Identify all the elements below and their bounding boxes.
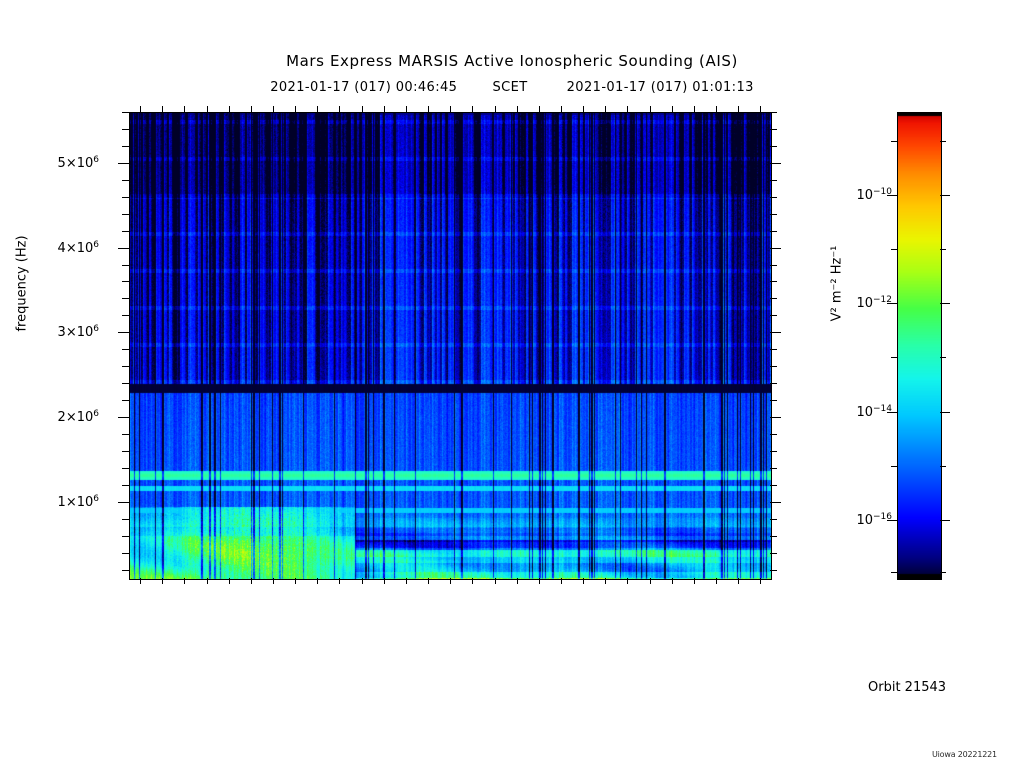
y-axis-tick-label: 4×106 — [58, 239, 99, 255]
colorbar-tick — [940, 412, 950, 413]
y-axis-tick — [122, 197, 129, 198]
y-axis-tick — [770, 315, 777, 316]
orbit-label: Orbit 21543 — [868, 680, 946, 695]
colorbar-minor-tick — [940, 357, 946, 358]
end-datetime: 2021-01-17 (017) 01:01:13 — [567, 80, 754, 95]
x-axis-tick — [760, 106, 761, 112]
y-axis-tick — [122, 536, 129, 537]
y-axis-tick — [770, 163, 781, 164]
x-axis-tick — [539, 106, 540, 112]
x-axis-tick — [561, 578, 562, 584]
x-axis-tick — [384, 106, 385, 112]
x-axis-tick — [251, 578, 252, 584]
y-axis-tick — [122, 434, 129, 435]
y-axis-tick — [770, 553, 777, 554]
y-axis-tick — [770, 468, 777, 469]
y-axis-tick — [122, 553, 129, 554]
x-axis-tick — [517, 578, 518, 584]
x-axis-tick — [384, 578, 385, 584]
y-axis-tick — [770, 214, 777, 215]
colorbar-minor-tick — [891, 249, 897, 250]
x-axis-tick — [140, 106, 141, 112]
x-axis-tick — [339, 578, 340, 584]
y-axis-tick — [770, 366, 777, 367]
colorbar-minor-tick — [940, 466, 946, 467]
y-axis-tick — [770, 451, 777, 452]
x-axis-tick — [140, 578, 141, 584]
time-range-subtitle: 2021-01-17 (017) 00:46:45 SCET 2021-01-1… — [0, 80, 1024, 95]
x-axis-tick — [229, 106, 230, 112]
y-axis-tick — [770, 129, 777, 130]
x-axis-tick — [495, 578, 496, 584]
colorbar-tick — [887, 520, 897, 521]
colorbar-minor-tick — [891, 357, 897, 358]
colorbar-tick — [887, 303, 897, 304]
y-axis-tick-label: 2×106 — [58, 409, 99, 425]
x-axis-tick — [450, 578, 451, 584]
x-axis-tick — [561, 106, 562, 112]
y-axis-tick — [122, 146, 129, 147]
x-axis-tick — [716, 106, 717, 112]
y-axis-tick — [122, 315, 129, 316]
y-axis-tick — [122, 281, 129, 282]
x-axis-tick — [428, 578, 429, 584]
colorbar-minor-tick — [891, 141, 897, 142]
y-axis-tick — [122, 485, 129, 486]
y-axis-tick-label: 3×106 — [58, 324, 99, 340]
x-axis-tick — [406, 106, 407, 112]
y-axis-title: frequency (Hz) — [15, 204, 30, 364]
x-axis-tick — [162, 578, 163, 584]
x-axis-tick — [738, 106, 739, 112]
x-axis-tick — [627, 106, 628, 112]
y-axis-tick — [770, 400, 777, 401]
x-axis-tick — [495, 106, 496, 112]
x-axis-tick — [207, 578, 208, 584]
x-axis-tick — [627, 578, 628, 584]
y-axis-tick — [122, 468, 129, 469]
x-axis-tick — [295, 578, 296, 584]
x-axis-tick — [450, 106, 451, 112]
y-axis-tick — [770, 417, 781, 418]
y-axis-tick — [118, 417, 129, 418]
colorbar-tick — [940, 195, 950, 196]
x-axis-tick — [583, 578, 584, 584]
x-axis-tick — [273, 106, 274, 112]
y-axis-tick — [122, 129, 129, 130]
colorbar-minor-tick — [940, 141, 946, 142]
colorbar-tick — [940, 303, 950, 304]
colorbar-title: V² m⁻² Hz⁻¹ — [830, 204, 845, 364]
y-axis-tick-label: 1×106 — [58, 494, 99, 510]
y-axis-tick — [770, 383, 777, 384]
page-title: Mars Express MARSIS Active Ionospheric S… — [0, 52, 1024, 70]
x-axis-tick — [472, 106, 473, 112]
x-axis-tick — [162, 106, 163, 112]
x-axis-tick — [251, 106, 252, 112]
colorbar-tick — [940, 520, 950, 521]
y-axis-tick — [122, 231, 129, 232]
y-axis-tick — [122, 366, 129, 367]
x-axis-tick — [672, 578, 673, 584]
colorbar-minor-tick — [891, 572, 897, 573]
y-axis-tick — [770, 570, 777, 571]
x-axis-tick — [406, 578, 407, 584]
x-axis-tick — [694, 578, 695, 584]
y-axis-tick — [770, 180, 777, 181]
y-axis-tick — [770, 248, 781, 249]
colorbar-minor-tick — [891, 466, 897, 467]
x-axis-tick — [295, 106, 296, 112]
x-axis-tick — [605, 106, 606, 112]
colorbar[interactable] — [897, 112, 942, 580]
y-axis-tick-label: 5×106 — [58, 155, 99, 171]
colorbar-minor-tick — [940, 249, 946, 250]
y-axis-tick — [770, 298, 777, 299]
x-axis-tick — [472, 578, 473, 584]
x-axis-tick — [583, 106, 584, 112]
spectrogram-plot[interactable] — [129, 112, 772, 580]
y-axis-tick — [770, 502, 781, 503]
x-axis-tick — [517, 106, 518, 112]
y-axis-tick — [118, 332, 129, 333]
y-axis-tick — [122, 112, 129, 113]
colorbar-canvas — [898, 113, 941, 579]
y-axis-tick — [122, 400, 129, 401]
x-axis-tick — [605, 578, 606, 584]
y-axis-tick — [122, 298, 129, 299]
y-axis-tick — [770, 265, 777, 266]
x-axis-tick — [362, 106, 363, 112]
y-axis-tick — [770, 281, 777, 282]
x-axis-tick — [184, 578, 185, 584]
x-axis-tick — [716, 578, 717, 584]
y-axis-tick — [770, 332, 781, 333]
y-axis-tick — [770, 519, 777, 520]
y-axis-tick — [122, 570, 129, 571]
colorbar-tick — [887, 412, 897, 413]
x-axis-tick — [428, 106, 429, 112]
x-axis-tick — [672, 106, 673, 112]
y-axis-tick — [770, 536, 777, 537]
x-axis-tick — [694, 106, 695, 112]
x-axis-tick — [362, 578, 363, 584]
x-axis-tick — [317, 578, 318, 584]
y-axis-tick — [770, 434, 777, 435]
colorbar-tick — [887, 195, 897, 196]
y-axis-tick — [770, 349, 777, 350]
y-axis-tick — [122, 265, 129, 266]
y-axis-tick — [770, 485, 777, 486]
y-axis-tick — [770, 231, 777, 232]
y-axis-tick — [122, 214, 129, 215]
x-axis-tick — [539, 578, 540, 584]
y-axis-tick — [122, 383, 129, 384]
y-axis-tick — [118, 163, 129, 164]
start-datetime: 2021-01-17 (017) 00:46:45 — [270, 80, 457, 95]
x-axis-tick — [339, 106, 340, 112]
x-axis-tick — [229, 578, 230, 584]
x-axis-tick — [317, 106, 318, 112]
y-axis-tick — [118, 502, 129, 503]
x-axis-tick — [650, 578, 651, 584]
y-axis-tick — [122, 349, 129, 350]
y-axis-tick — [770, 112, 777, 113]
y-axis-tick — [122, 451, 129, 452]
y-axis-tick — [118, 248, 129, 249]
y-axis-tick — [122, 519, 129, 520]
x-axis-tick — [738, 578, 739, 584]
x-axis-tick — [650, 106, 651, 112]
y-axis-tick — [122, 180, 129, 181]
time-system-label: SCET — [492, 80, 527, 95]
x-axis-tick — [760, 578, 761, 584]
x-axis-tick — [273, 578, 274, 584]
y-axis-tick — [770, 146, 777, 147]
y-axis-tick — [770, 197, 777, 198]
x-axis-tick — [207, 106, 208, 112]
colorbar-minor-tick — [940, 572, 946, 573]
x-axis-tick — [184, 106, 185, 112]
watermark: Uiowa 20221221 — [932, 750, 997, 759]
spectrogram-canvas — [130, 113, 771, 579]
